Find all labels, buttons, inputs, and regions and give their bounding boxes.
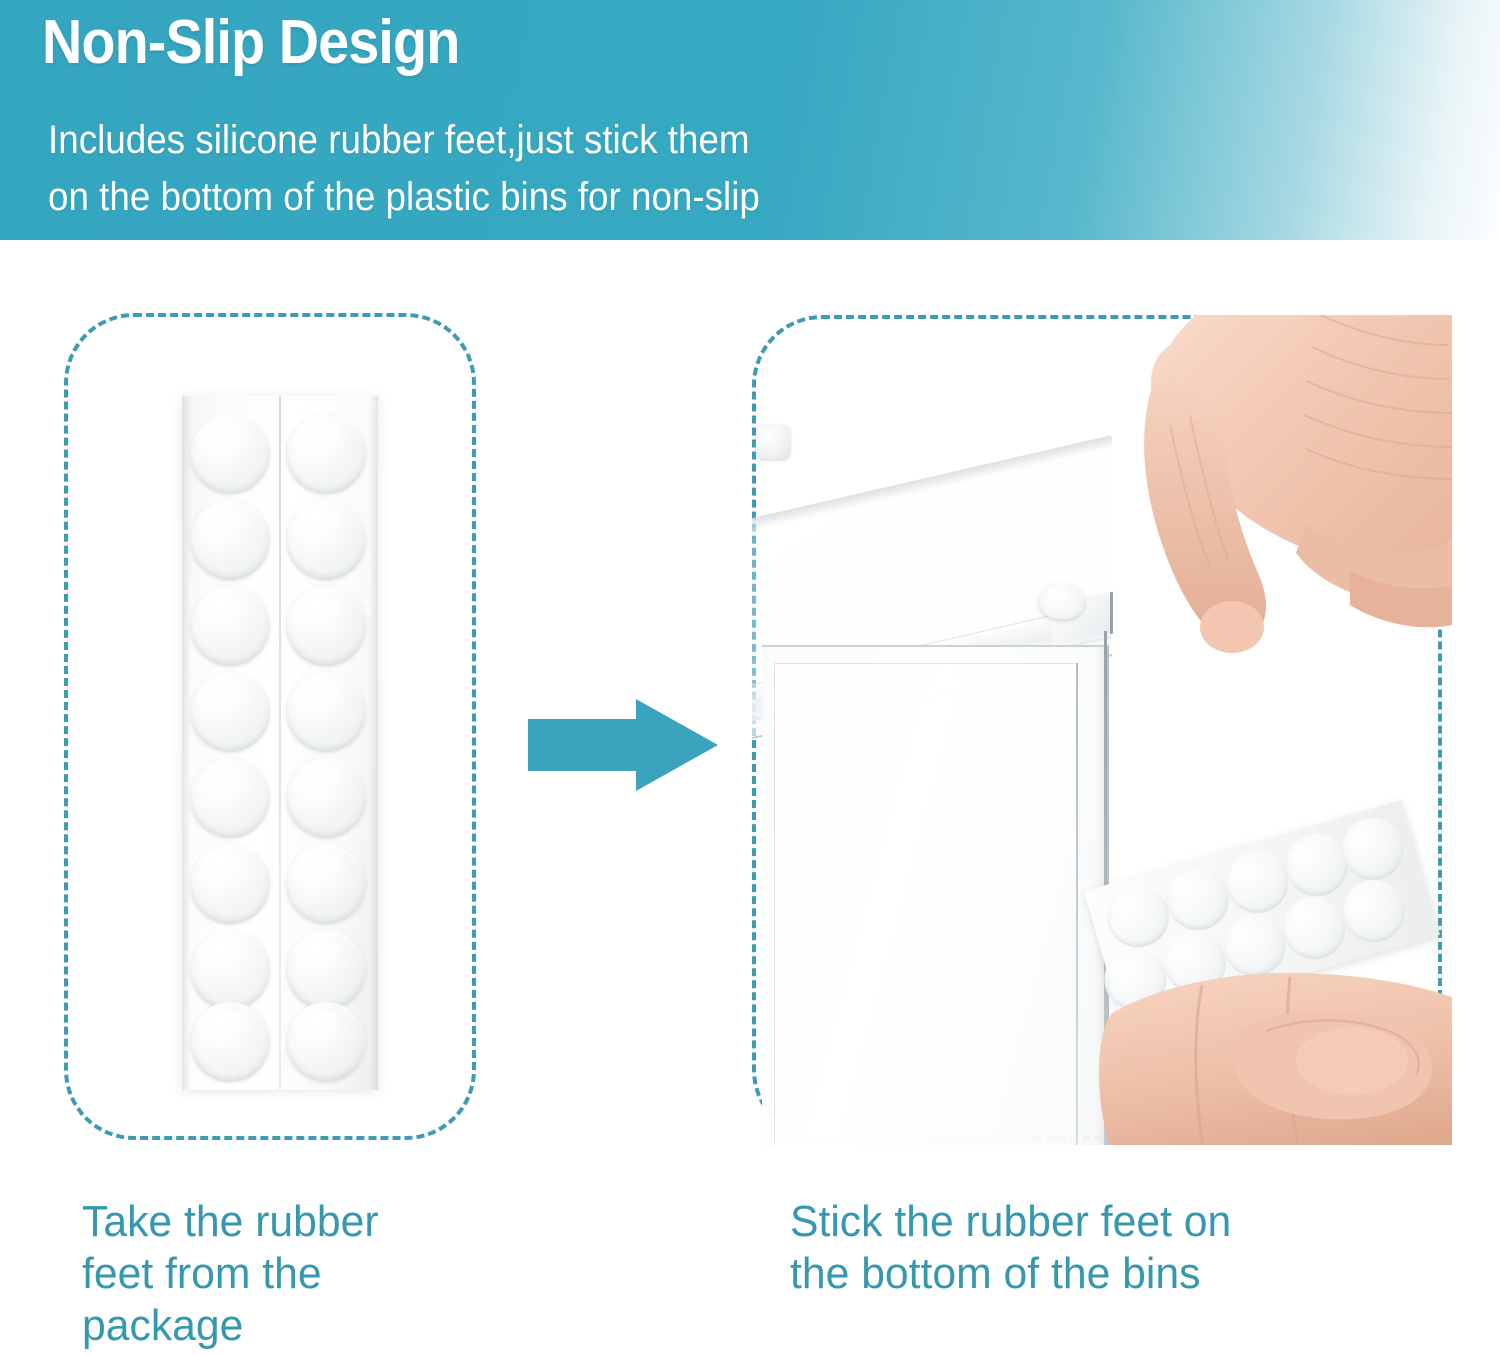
strip-right-edge: [369, 396, 378, 1090]
right-step-caption: Stick the rubber feet on the bottom of t…: [790, 1196, 1231, 1300]
bumper-dome: [286, 586, 366, 666]
left-caption-line-2: feet from the: [82, 1248, 379, 1300]
bumper-dome: [286, 758, 366, 838]
bumper-dome: [286, 930, 366, 1010]
infographic-canvas: Non-Slip Design Includes silicone rubber…: [0, 0, 1500, 1355]
hand-pressing-icon: [1020, 315, 1452, 695]
header-subtitle: Includes silicone rubber feet,just stick…: [48, 112, 760, 226]
bumper-dome: [190, 414, 270, 494]
bumper-dome: [286, 844, 366, 924]
bumper-dome: [190, 930, 270, 1010]
strip-left-edge: [182, 396, 191, 1090]
bumper-strip-image: [182, 396, 378, 1090]
bumper-dome: [286, 500, 366, 580]
header-banner: Non-Slip Design Includes silicone rubber…: [0, 0, 1500, 240]
bin-corner-bumper: [756, 425, 790, 459]
bumper-dome: [190, 1002, 270, 1082]
bumper-dome: [190, 500, 270, 580]
right-caption-line-2: the bottom of the bins: [790, 1248, 1231, 1300]
bin-photo: [752, 315, 1452, 1145]
left-step-caption: Take the rubber feet from the package: [82, 1196, 379, 1352]
bumper-dome: [190, 586, 270, 666]
bumper-dome: [190, 844, 270, 924]
step-arrow-icon: [528, 699, 718, 791]
header-subtitle-line-1: Includes silicone rubber feet,just stick…: [48, 112, 760, 169]
bumper-dome: [286, 672, 366, 752]
bumper-dome: [190, 758, 270, 838]
left-caption-line-3: package: [82, 1300, 379, 1352]
bumper-dome: [190, 672, 270, 752]
right-caption-line-1: Stick the rubber feet on: [790, 1196, 1231, 1248]
hand-holding-strip-icon: [1052, 875, 1452, 1145]
header-subtitle-line-2: on the bottom of the plastic bins for no…: [48, 169, 760, 226]
page-title: Non-Slip Design: [42, 12, 459, 74]
bumper-dome: [286, 414, 366, 494]
left-caption-line-1: Take the rubber: [82, 1196, 379, 1248]
bumper-dome: [286, 1002, 366, 1082]
bin-front-inner-panel: [774, 663, 1075, 1145]
